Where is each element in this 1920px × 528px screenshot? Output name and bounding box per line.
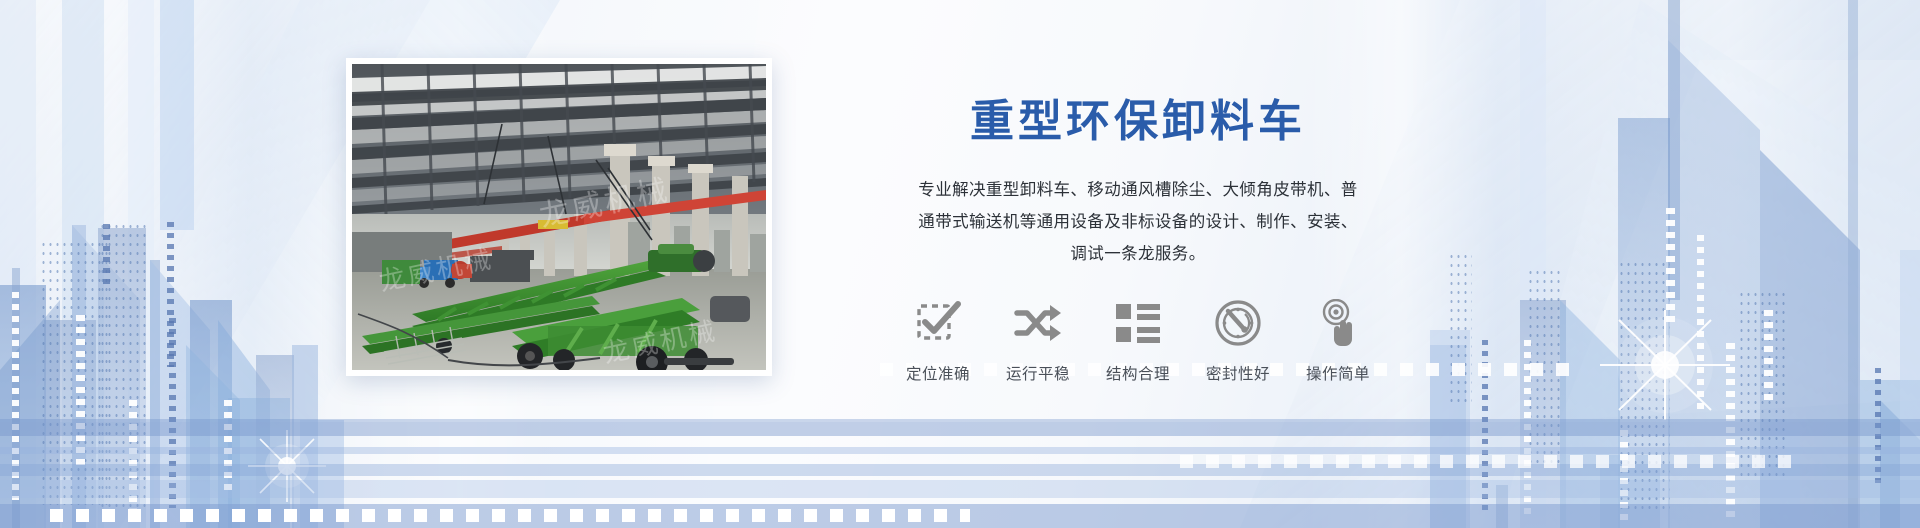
page-title: 重型环保卸料车: [818, 96, 1458, 148]
product-photo: 龙威机械 龙威机械 龙威机械: [352, 64, 766, 370]
window-dash-column: [103, 224, 110, 284]
checkbox-check-icon: [911, 296, 965, 350]
dashed-square-strip: [1180, 455, 1800, 468]
layout-blocks-icon: [1111, 296, 1165, 350]
feature-item-sealing[interactable]: 密封性好: [1188, 296, 1288, 384]
seal-circle-icon: [1211, 296, 1265, 350]
feature-item-positioning[interactable]: 定位准确: [888, 296, 988, 384]
hero-banner: 龙威机械 龙威机械 龙威机械 重型环保卸料车 专业解决重型卸料车、移动通风槽除尘…: [0, 0, 1920, 528]
description-line: 通带式输送机等通用设备及非标设备的设计、制作、安装、: [824, 206, 1452, 238]
feature-label: 操作简单: [1306, 362, 1370, 384]
feature-label: 密封性好: [1206, 362, 1270, 384]
banner-description: 专业解决重型卸料车、移动通风槽除尘、大倾角皮带机、普 通带式输送机等通用设备及非…: [818, 174, 1458, 271]
product-photo-frame: 龙威机械 龙威机械 龙威机械: [346, 58, 772, 376]
shuffle-arrows-icon: [1011, 296, 1065, 350]
background-base-bars: [0, 368, 1920, 528]
feature-list: 定位准确 运行平稳: [818, 296, 1458, 384]
feature-label: 结构合理: [1106, 362, 1170, 384]
description-line: 调试一条龙服务。: [824, 238, 1452, 270]
banner-content: 重型环保卸料车 专业解决重型卸料车、移动通风槽除尘、大倾角皮带机、普 通带式输送…: [818, 96, 1458, 384]
touch-hand-icon: [1311, 296, 1365, 350]
feature-label: 定位准确: [906, 362, 970, 384]
dashed-square-strip: [50, 509, 970, 522]
window-dash-column: [1666, 208, 1675, 323]
feature-label: 运行平稳: [1006, 362, 1070, 384]
feature-item-structure[interactable]: 结构合理: [1088, 296, 1188, 384]
description-line: 专业解决重型卸料车、移动通风槽除尘、大倾角皮带机、普: [824, 174, 1452, 206]
feature-item-smooth-running[interactable]: 运行平稳: [988, 296, 1088, 384]
feature-item-easy-operation[interactable]: 操作简单: [1288, 296, 1388, 384]
